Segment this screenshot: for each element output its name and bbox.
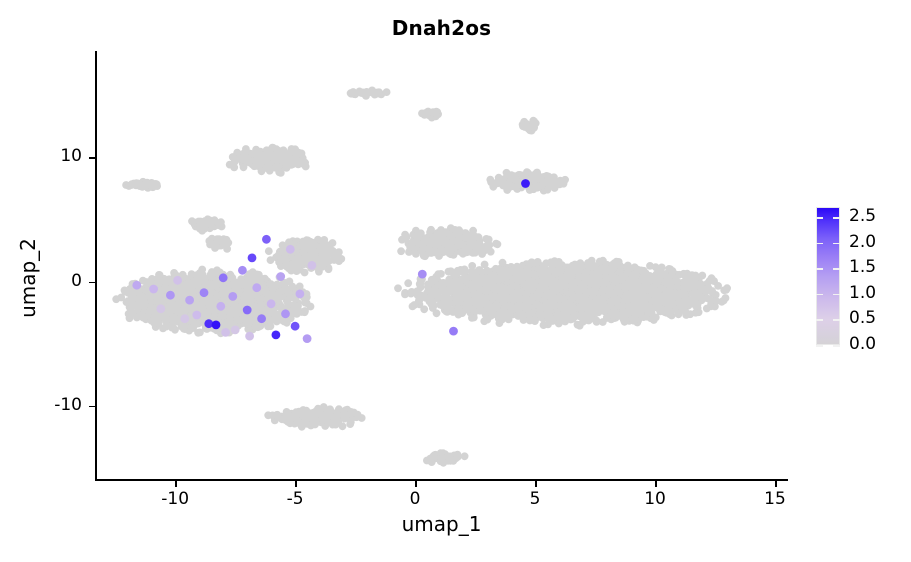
colorbar-tick [816,294,823,296]
x-tick [295,481,297,487]
x-tick [415,481,417,487]
y-axis-spine [95,51,97,481]
y-tick [89,157,95,159]
y-tick [89,282,95,284]
colorbar-tick-label: 0.0 [849,334,876,354]
colorbar-tick [833,268,840,270]
x-axis-spine [95,479,788,481]
x-tick-label: -5 [265,489,325,509]
cluster-small-lobe-lower [205,235,232,253]
cluster-mid-sliver-b [418,108,442,122]
cluster-bottom-small-island [423,449,469,466]
y-tick-label: -10 [0,395,82,415]
y-tick-label: 0 [0,271,82,291]
colorbar-tick [833,217,840,219]
y-tick-label: 10 [0,146,82,166]
y-axis-label: umap_2 [16,188,40,368]
cluster-right-sliver [519,117,540,135]
scatter-plot-canvas [96,52,787,480]
x-tick-label: -10 [145,489,205,509]
umap-feature-plot-figure: Dnah2os -10-5051015-10010 umap_1 umap_2 … [0,0,911,562]
x-tick [775,481,777,487]
colorbar-tick [816,243,823,245]
x-tick [655,481,657,487]
colorbar-tick-label: 1.0 [849,283,876,303]
y-tick [89,406,95,408]
x-tick [535,481,537,487]
colorbar-tick [816,319,823,321]
cluster-mid-sliver-a [347,87,391,100]
x-axis-label: umap_1 [96,512,787,536]
colorbar-tick [816,217,823,219]
colorbar-tick [816,268,823,270]
colorbar-tick-label: 2.5 [849,206,876,226]
colorbar-tick [816,345,823,347]
cluster-right-upper-lobe [397,224,501,260]
cluster-upper-mid-island [226,144,310,177]
colorbar-tick [833,319,840,321]
colorbar-tick-label: 0.5 [849,308,876,328]
x-tick-label: 15 [745,489,805,509]
scatter-points [96,52,787,480]
colorbar-tick-label: 2.0 [849,232,876,252]
x-tick-label: 5 [505,489,565,509]
colorbar-tick [833,294,840,296]
cluster-small-lobe-upper [188,215,225,234]
colorbar [816,207,840,345]
x-tick-label: 10 [625,489,685,509]
cluster-mid-bridge [265,236,345,277]
x-tick [175,481,177,487]
cluster-left-sliver [122,178,161,192]
cluster-lower-mid-island [264,403,365,431]
cluster-right-main-cluster [394,257,731,330]
colorbar-gradient [816,207,840,345]
colorbar-tick [833,345,840,347]
x-tick-label: 0 [385,489,445,509]
page-title: Dnah2os [96,16,787,40]
colorbar-tick [833,243,840,245]
colorbar-tick-label: 1.5 [849,257,876,277]
